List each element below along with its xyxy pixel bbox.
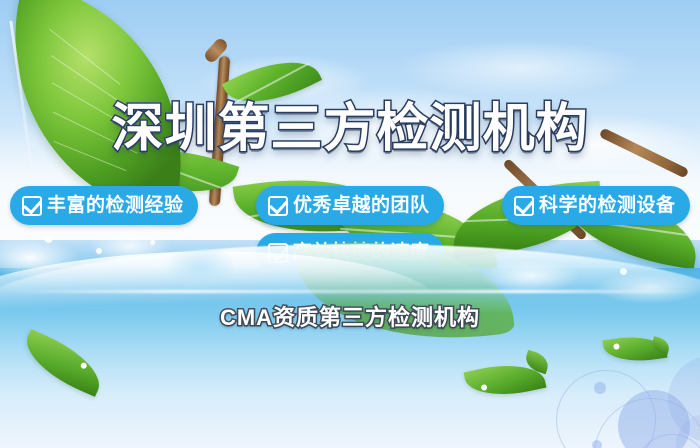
banner-subtitle: CMA资质第三方检测机构 [0, 300, 700, 332]
feature-badge-label: 丰富的检测经验 [47, 196, 184, 215]
feature-badge-rich-experience[interactable]: 丰富的检测经验 [10, 186, 198, 225]
water-droplet [44, 234, 53, 243]
water-surface-line [0, 290, 700, 293]
checkbox-checked-icon [22, 196, 42, 216]
water-droplet [620, 268, 627, 275]
bubble-dot-1 [594, 382, 606, 394]
promotional-banner: 深圳第三方检测机构 丰富的检测经验 优秀卓越的团队 科学的检测设备 高效快捷的速… [0, 0, 700, 448]
feature-badge-label: 优秀卓越的团队 [293, 196, 430, 215]
banner-title: 深圳第三方检测机构 [0, 86, 700, 161]
water-droplet [96, 248, 102, 254]
feature-badge-excellent-team[interactable]: 优秀卓越的团队 [256, 186, 444, 225]
feature-badge-label: 科学的检测设备 [539, 196, 676, 215]
water-droplet [150, 240, 155, 245]
banner-title-text: 深圳第三方检测机构 [111, 100, 588, 158]
bubble-dot-2 [592, 440, 602, 448]
checkbox-checked-icon [514, 196, 534, 216]
feature-badge-scientific-equipment[interactable]: 科学的检测设备 [502, 186, 690, 225]
checkbox-checked-icon [268, 196, 288, 216]
